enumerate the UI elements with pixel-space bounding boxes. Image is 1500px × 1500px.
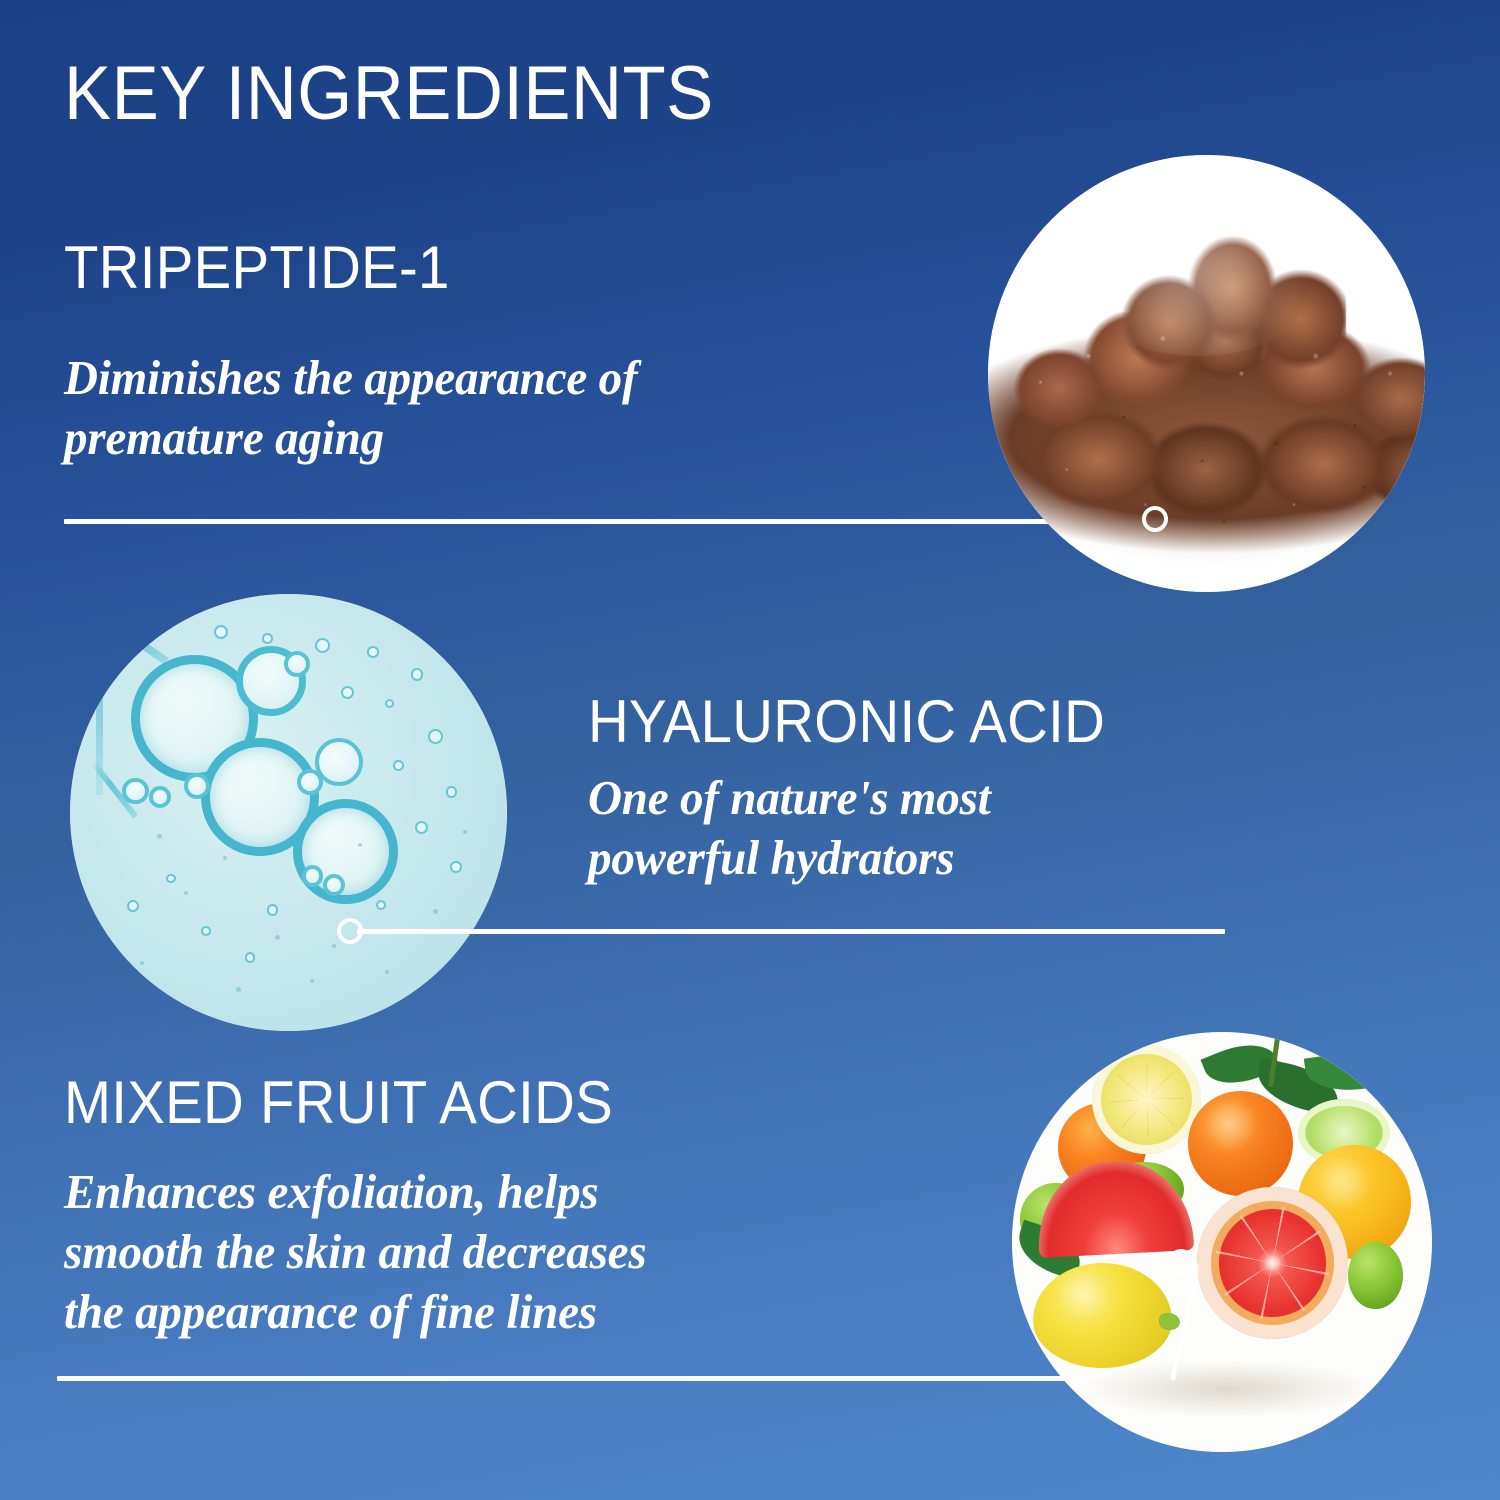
ingredient-description-fruit-acids: Enhances exfoliation, helps smooth the s…	[64, 1162, 890, 1341]
tripeptide-desc-line-2: premature aging	[64, 408, 870, 468]
fruit-acids-desc-line-1: Enhances exfoliation, helps	[64, 1162, 890, 1222]
page-title: KEY INGREDIENTS	[64, 56, 714, 132]
tripeptide-marker-ring	[1142, 506, 1168, 532]
divider-hyaluronic	[357, 929, 1225, 934]
ingredient-name-hyaluronic: HYALURONIC ACID	[588, 692, 1105, 752]
hyaluronic-desc-line-2: powerful hydrators	[588, 828, 1202, 888]
ingredient-name-fruit-acids: MIXED FRUIT ACIDS	[64, 1073, 613, 1133]
ingredient-description-tripeptide: Diminishes the appearance of premature a…	[64, 348, 870, 468]
copper-peptide-powder-photo	[988, 155, 1425, 592]
fruit-acids-desc-line-3: the appearance of fine lines	[64, 1282, 890, 1342]
hyaluronic-desc-line-1: One of nature's most	[588, 768, 1202, 828]
ingredient-description-hyaluronic: One of nature's most powerful hydrators	[588, 768, 1202, 888]
fruit-acids-marker-ring	[1168, 1249, 1194, 1275]
fruit-acids-desc-line-2: smooth the skin and decreases	[64, 1222, 890, 1282]
divider-tripeptide	[64, 519, 1147, 524]
hyaluronic-gel-bubbles-photo	[70, 594, 507, 1031]
key-ingredients-poster: KEY INGREDIENTS TRIPEPTIDE-1 Diminishes …	[0, 0, 1500, 1500]
divider-fruit-acids	[57, 1376, 1173, 1381]
tripeptide-desc-line-1: Diminishes the appearance of	[64, 348, 870, 408]
ingredient-name-tripeptide: TRIPEPTIDE-1	[64, 238, 450, 298]
citrus-fruits-photo	[1012, 1032, 1432, 1452]
